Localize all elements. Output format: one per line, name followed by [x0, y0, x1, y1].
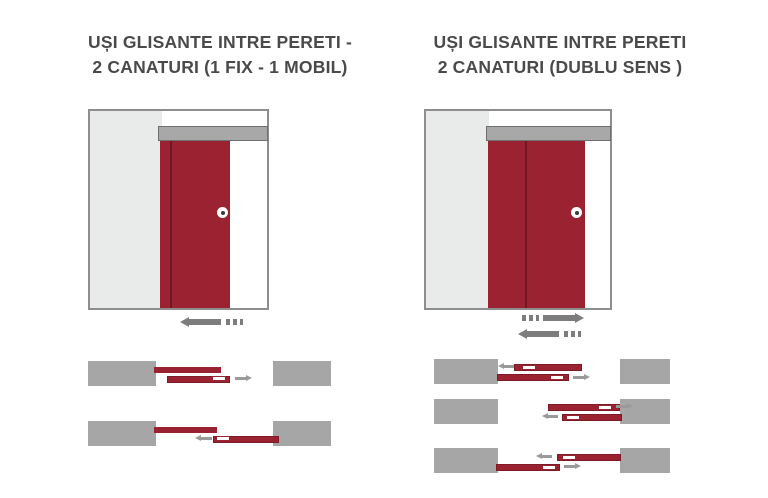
plan-view-right-closed — [430, 443, 660, 477]
motion-dash-3 — [536, 315, 539, 321]
plan-leaf-marker-1 — [562, 455, 576, 460]
motion-dash-2 — [233, 319, 237, 325]
plan-wall-right — [273, 361, 331, 386]
arrow-head-left-icon — [180, 317, 189, 327]
door-seam-left — [170, 140, 172, 308]
plan-arrow-right — [616, 403, 634, 410]
door-handle-left — [217, 207, 228, 218]
mini-arrow-shaft — [235, 377, 246, 380]
motion-dash-3 — [578, 331, 581, 337]
arrow-shaft — [543, 315, 575, 321]
arrow-head-right-icon — [575, 313, 584, 323]
title-right-configuration: UȘI GLISANTE INTRE PERETI 2 CANATURI (DU… — [380, 30, 740, 80]
door-leaf-right-2 — [525, 140, 585, 308]
mini-arrow-shaft — [616, 405, 627, 408]
header-rail-right — [486, 126, 611, 141]
door-handle-right — [571, 207, 582, 218]
mini-arrow-shaft — [504, 365, 514, 368]
motion-dash-1 — [226, 319, 230, 325]
header-rail-left — [158, 126, 268, 141]
title-left-line-1: UȘI GLISANTE INTRE PERETI - — [40, 30, 400, 55]
plan-arrow-left — [542, 413, 560, 420]
arrow-shaft — [527, 331, 559, 337]
plan-view-left-open — [88, 358, 308, 390]
title-right-line-2: 2 CANATURI (DUBLU SENS ) — [380, 55, 740, 80]
motion-dash-2 — [529, 315, 533, 321]
wall-fill-left — [426, 111, 489, 308]
arrow-shaft — [189, 319, 221, 325]
plan-view-right-open-right — [430, 396, 660, 430]
plan-arrow-left — [536, 453, 554, 460]
plan-view-right-open-left — [430, 355, 660, 389]
mini-arrow-shaft — [548, 415, 558, 418]
plan-arrow-right — [573, 374, 591, 381]
plan-leaf-marker-2 — [550, 375, 564, 380]
plan-arrow-right — [564, 463, 582, 470]
title-left-line-2: 2 CANATURI (1 FIX - 1 MOBIL) — [40, 55, 400, 80]
plan-arrow-left — [195, 435, 213, 442]
plan-leaf-1 — [154, 427, 217, 433]
plan-leaf-marker — [216, 436, 230, 441]
plan-leaf-1 — [154, 367, 221, 373]
mini-arrow-head-right-icon — [246, 375, 252, 381]
elevation-left — [88, 109, 269, 310]
plan-wall-left — [434, 359, 498, 384]
mini-arrow-head-right-icon — [575, 463, 581, 469]
mini-arrow-head-right-icon — [627, 403, 633, 409]
plan-arrow-right — [235, 375, 253, 382]
direction-arrow-right-forward — [522, 313, 592, 323]
diagram-canvas: UȘI GLISANTE INTRE PERETI - 2 CANATURI (… — [0, 0, 768, 498]
direction-arrow-left-panel — [180, 317, 250, 327]
plan-wall-left — [434, 399, 498, 424]
plan-wall-right — [620, 448, 670, 473]
plan-wall-left — [88, 361, 156, 386]
door-seam-right — [525, 140, 527, 308]
mini-arrow-shaft — [542, 455, 552, 458]
plan-leaf-marker-1 — [522, 365, 536, 370]
plan-leaf-marker-2 — [542, 465, 556, 470]
mini-arrow-shaft — [201, 437, 212, 440]
plan-wall-right — [620, 359, 670, 384]
mini-arrow-head-right-icon — [584, 374, 590, 380]
plan-leaf-marker-1 — [598, 405, 612, 410]
plan-view-left-closed — [88, 418, 308, 450]
plan-wall-right — [273, 421, 331, 446]
plan-leaf-marker-2 — [566, 415, 580, 420]
plan-arrow-left — [498, 363, 516, 370]
plan-wall-left — [434, 448, 498, 473]
plan-wall-left — [88, 421, 156, 446]
mini-arrow-shaft — [564, 465, 575, 468]
arrow-head-left-icon — [518, 329, 527, 339]
title-left-configuration: UȘI GLISANTE INTRE PERETI - 2 CANATURI (… — [40, 30, 400, 80]
motion-dash-1 — [564, 331, 568, 337]
plan-leaf-marker — [212, 376, 226, 381]
motion-dash-2 — [571, 331, 575, 337]
direction-arrow-right-backward — [518, 329, 588, 339]
motion-dash-1 — [522, 315, 526, 321]
mini-arrow-shaft — [573, 376, 584, 379]
door-leaf-right-1 — [488, 140, 525, 308]
wall-fill-left — [90, 111, 162, 308]
title-right-line-1: UȘI GLISANTE INTRE PERETI — [380, 30, 740, 55]
elevation-right — [424, 109, 612, 310]
motion-dash-3 — [240, 319, 243, 325]
